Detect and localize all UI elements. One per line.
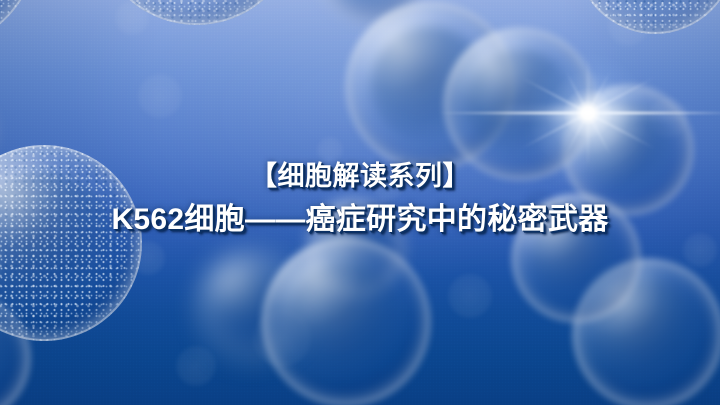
banner-canvas: 【细胞解读系列】 K562细胞——癌症研究中的秘密武器 [0, 0, 720, 405]
bokeh-mid-left [138, 74, 182, 118]
cell-under-flare [444, 28, 596, 180]
bokeh-upper-mid [317, 137, 343, 163]
cell-rim-highlight [262, 238, 430, 405]
bokeh-lower-left [176, 346, 216, 386]
bokeh-lower-right [448, 274, 492, 318]
cell-bottom-center [262, 238, 430, 405]
title-line-main: K562细胞——癌症研究中的秘密武器 [0, 205, 720, 235]
title-block: 【细胞解读系列】 K562细胞——癌症研究中的秘密武器 [0, 163, 720, 235]
cell-rim-highlight [444, 28, 596, 180]
bokeh-bottom-far-right [683, 233, 717, 267]
title-line-series: 【细胞解读系列】 [0, 163, 720, 190]
